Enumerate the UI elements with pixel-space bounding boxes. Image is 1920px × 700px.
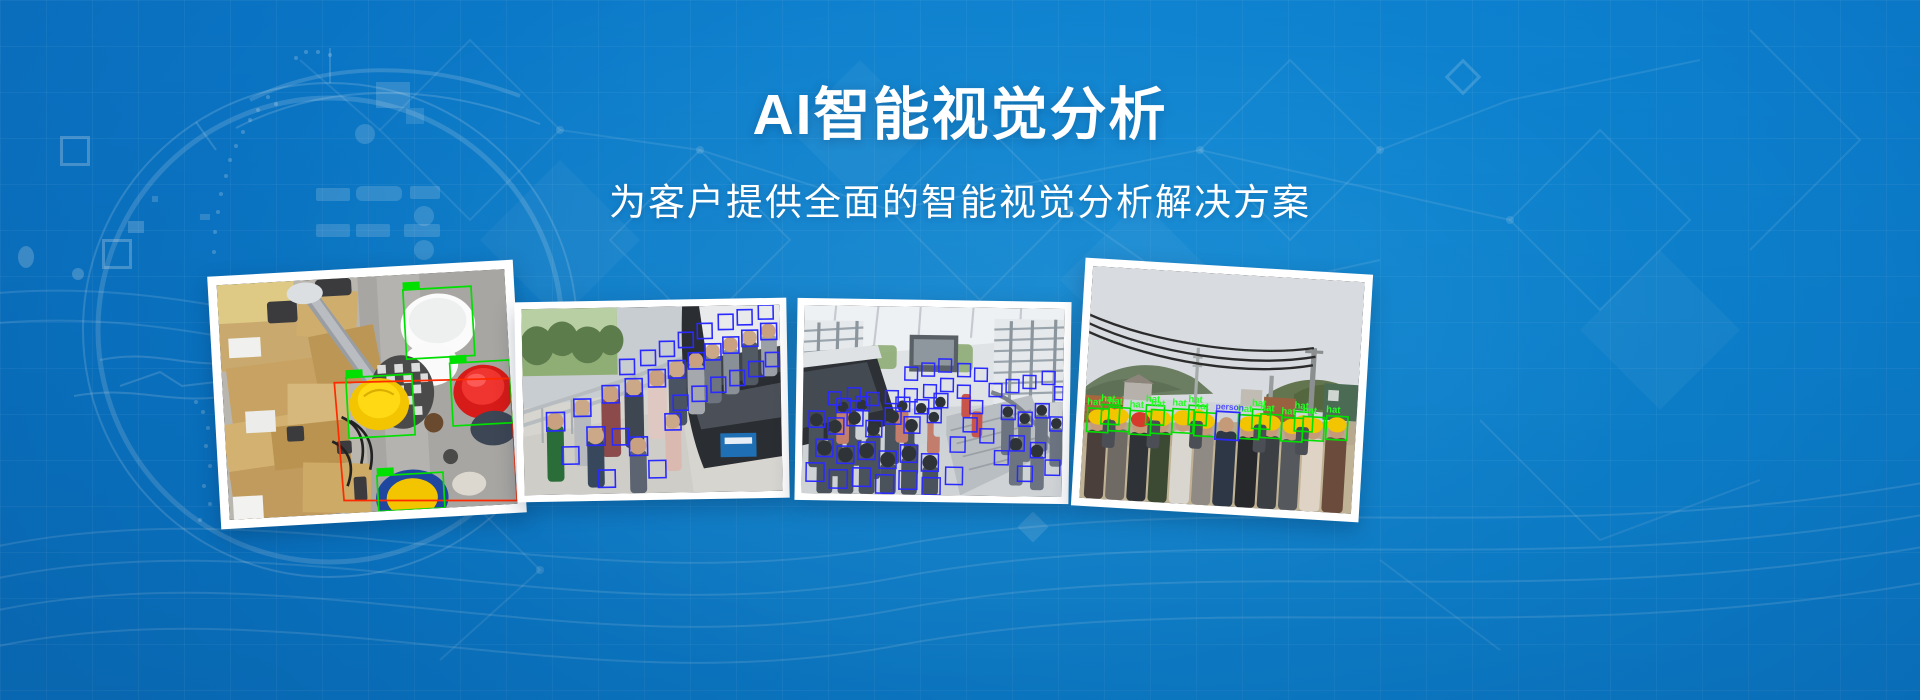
alert-label: person (1215, 401, 1244, 413)
svg-text:hat: hat (1129, 399, 1145, 411)
svg-text:hat: hat (1294, 400, 1310, 412)
gallery-item-outdoor-hardhat-detection[interactable]: hathat hathat hathat hathat hathat hat h… (1071, 258, 1373, 523)
svg-text:hat: hat (1172, 397, 1188, 409)
gallery-item-concourse-crowd-detection[interactable] (794, 298, 1071, 504)
gallery-item-platform-face-detection[interactable] (514, 298, 789, 503)
svg-text:hat: hat (1252, 398, 1268, 410)
gallery: hathat hathat hathat hathat hathat hat h… (0, 248, 1920, 538)
station-concourse-escalator-scene (802, 305, 1065, 497)
photo-frame (802, 305, 1065, 497)
svg-text:hat: hat (1146, 394, 1162, 406)
gallery-item-warehouse-helmet-detection[interactable] (207, 260, 527, 530)
warehouse-overhead-scene (217, 269, 518, 520)
train-platform-crowd-scene (521, 305, 782, 495)
photo-frame (217, 269, 518, 520)
svg-text:hat: hat (1326, 404, 1342, 416)
page-title: AI智能视觉分析 (0, 86, 1920, 146)
photo-frame: hathat hathat hathat hathat hathat hat h… (1079, 266, 1364, 514)
hero-banner: AI智能视觉分析 为客户提供全面的智能视觉分析解决方案 (0, 0, 1920, 700)
svg-text:person: person (1215, 401, 1244, 413)
outdoor-worker-group-scene: hathat hathat hathat hathat hathat hat h… (1079, 266, 1364, 514)
page-subtitle: 为客户提供全面的智能视觉分析解决方案 (0, 180, 1920, 226)
svg-text:hat: hat (1101, 393, 1117, 405)
svg-text:hat: hat (1188, 394, 1204, 406)
photo-frame (521, 305, 782, 495)
